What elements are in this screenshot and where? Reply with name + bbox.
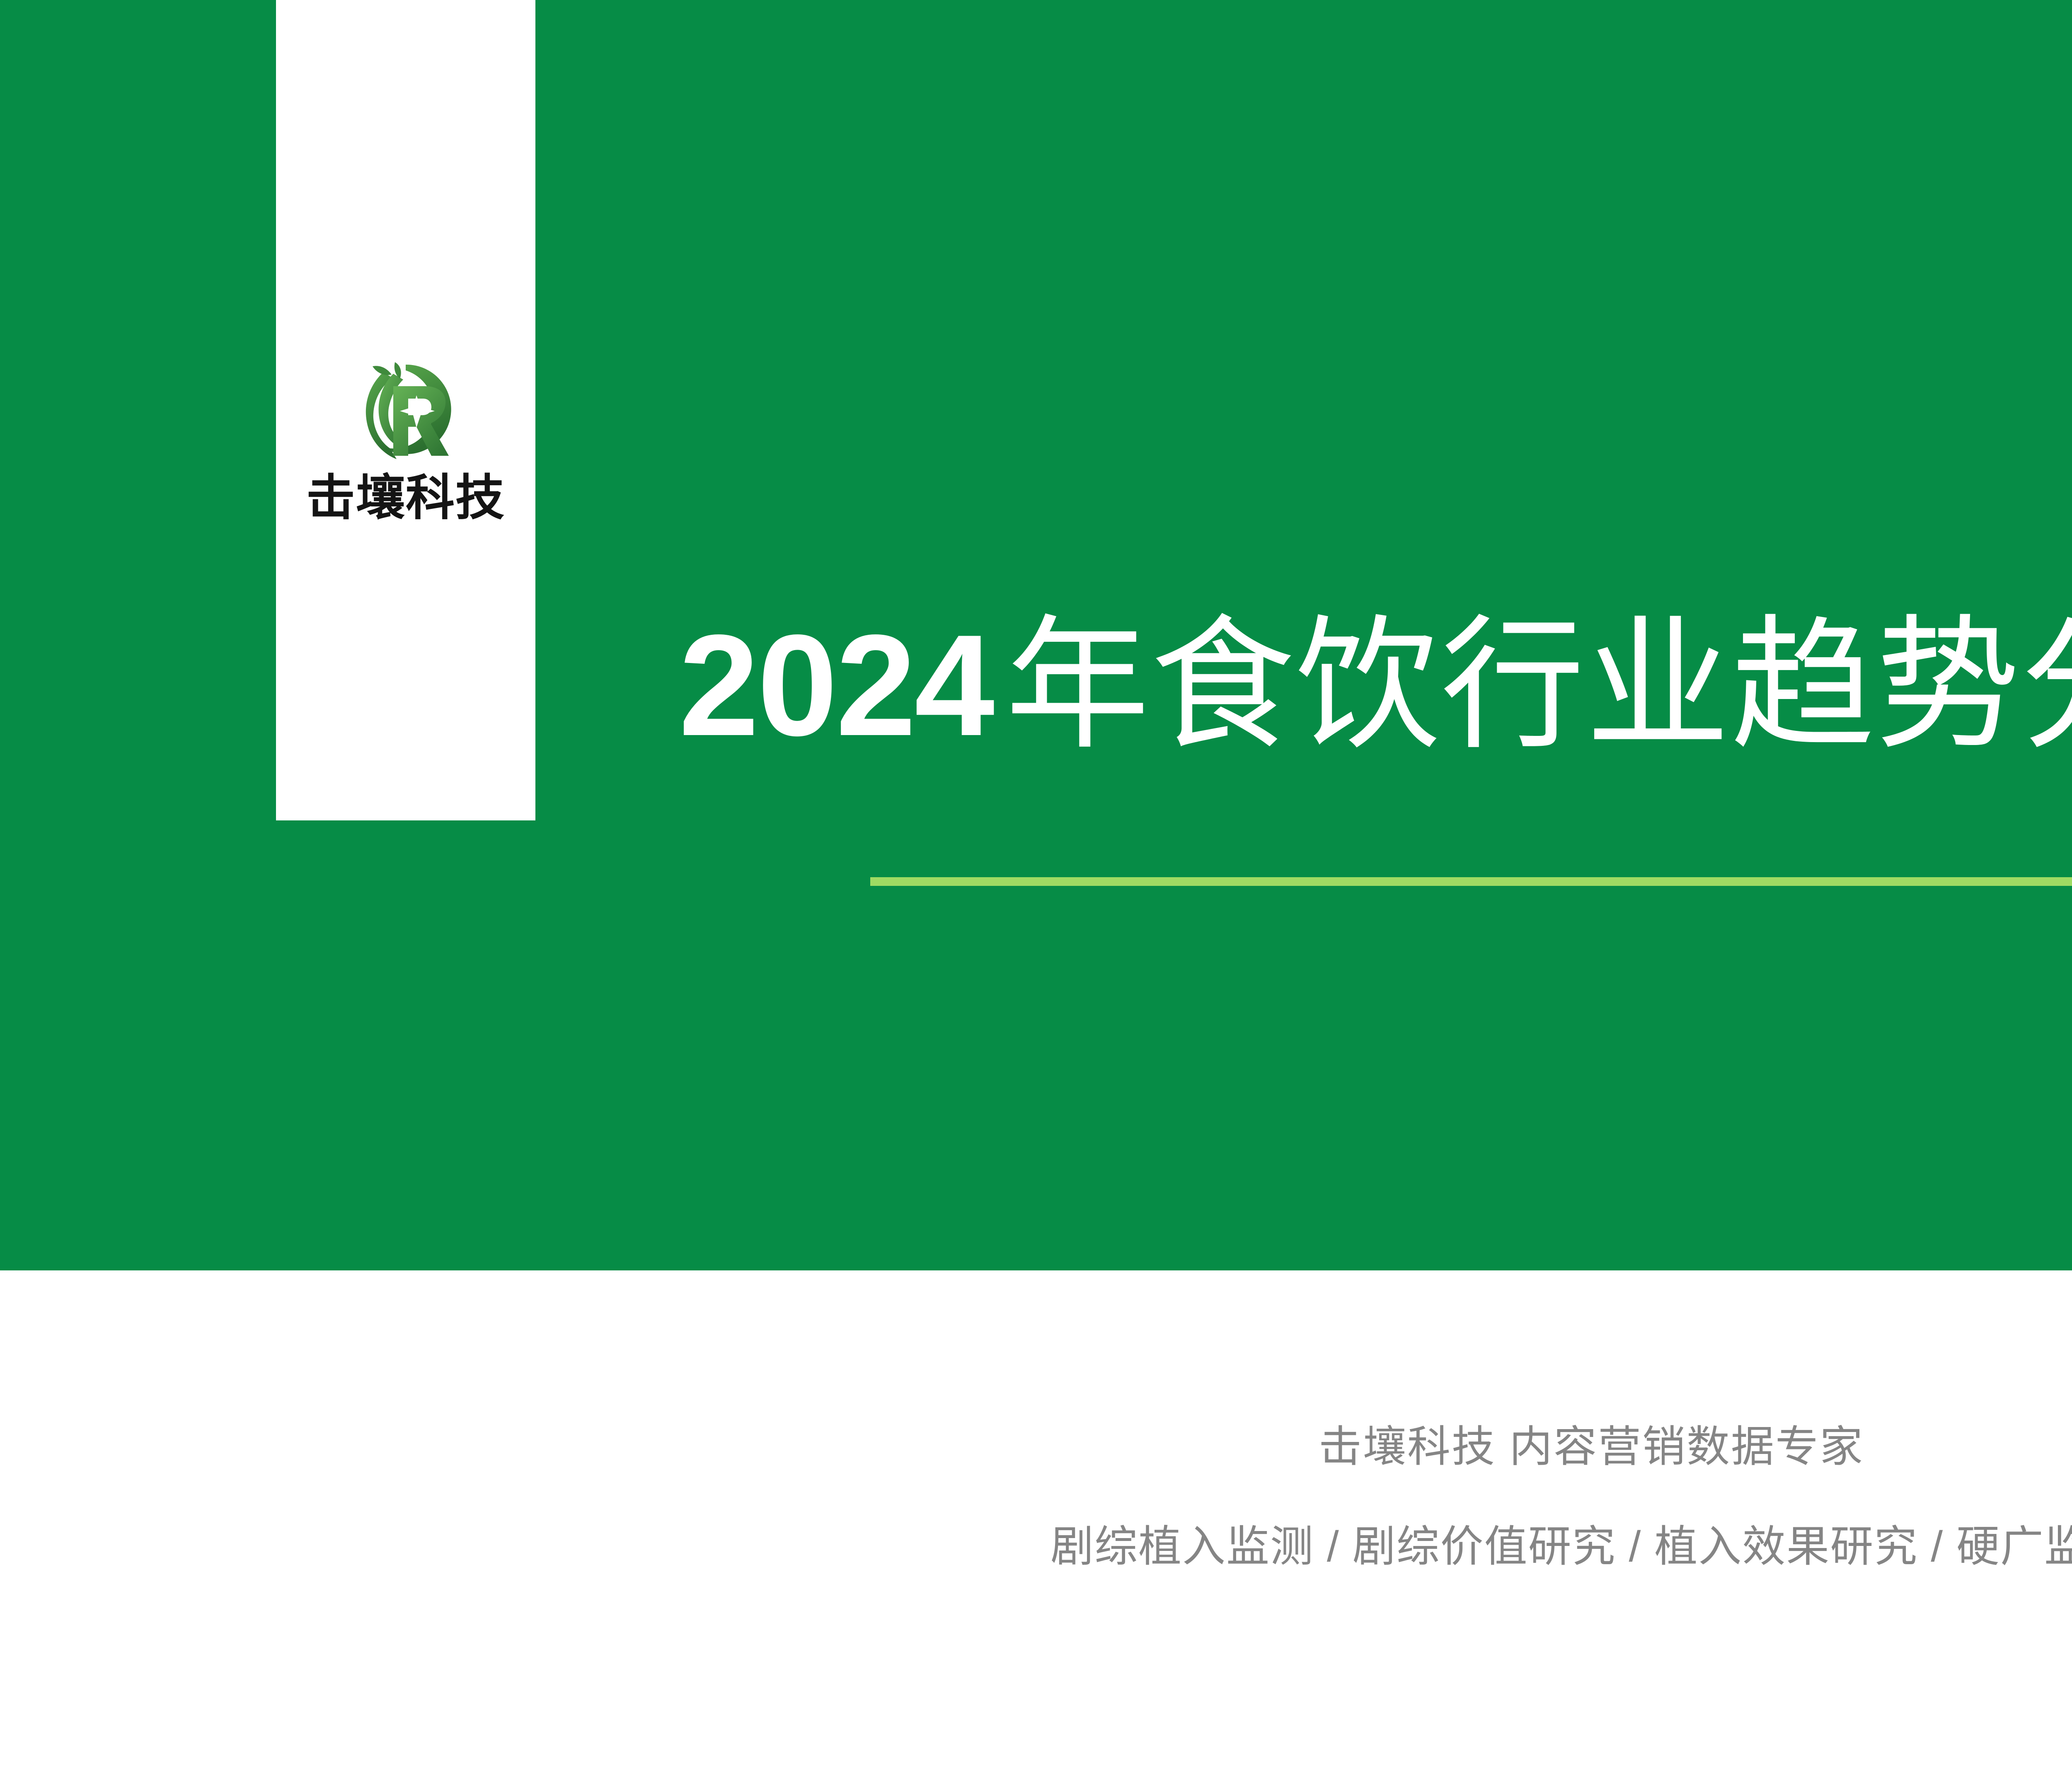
logo-group: 击壤科技 <box>306 352 505 522</box>
title-block: 2024年食饮行业趋势分析 <box>679 613 2072 757</box>
title-slide: 击壤科技 2024年食饮行业趋势分析 击壤科技 内容营销数据专家 剧综植入监测 … <box>0 0 2072 1790</box>
title-accent-rule <box>870 877 2072 886</box>
page-title: 2024年食饮行业趋势分析 <box>679 613 2072 757</box>
footer: 击壤科技 内容营销数据专家 剧综植入监测 / 剧综价值研究 / 植入效果研究 /… <box>0 1270 2072 1790</box>
logo-card: 击壤科技 <box>276 0 535 820</box>
footer-services: 剧综植入监测 / 剧综价值研究 / 植入效果研究 / 硬广监测 <box>0 1474 2072 1574</box>
jirang-leaf-r-monogram-logo-icon <box>344 352 468 466</box>
title-chinese: 年食饮行业趋势分析 <box>1005 605 2072 766</box>
logo-wordmark: 击壤科技 <box>306 474 505 522</box>
title-year: 2024 <box>679 605 993 766</box>
footer-tagline: 击壤科技 内容营销数据专家 <box>0 1270 2072 1474</box>
